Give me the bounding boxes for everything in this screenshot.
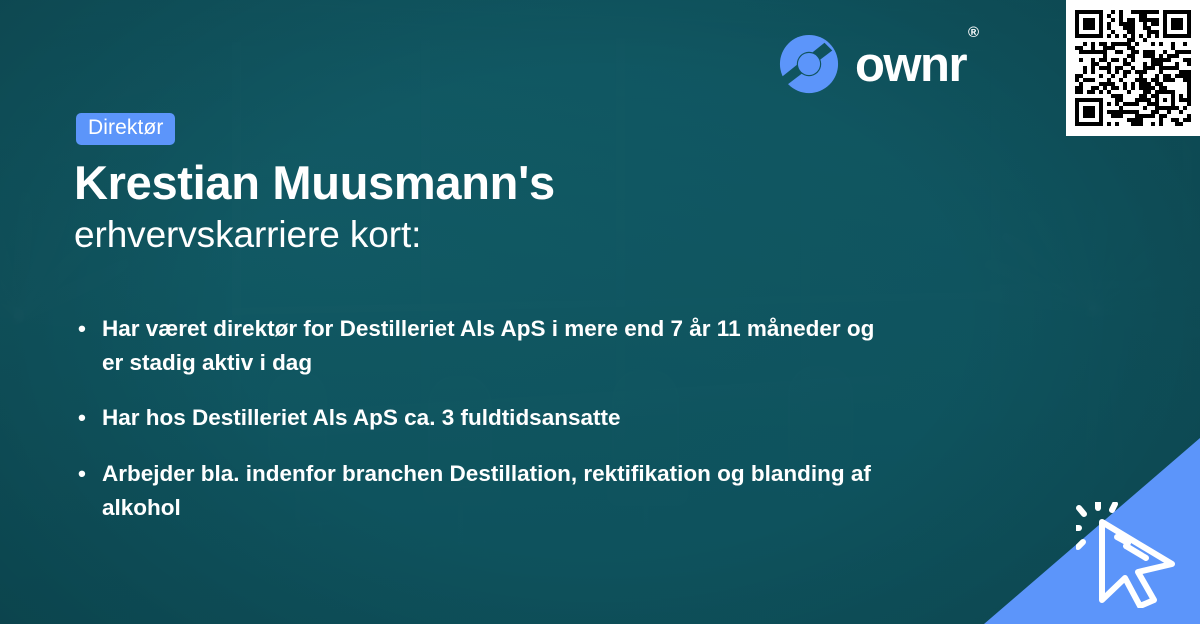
- ownr-circle-swoosh-icon: [778, 33, 840, 95]
- ownr-logo[interactable]: ownr ®: [778, 33, 977, 95]
- bullet-marker-icon: •: [78, 457, 102, 525]
- list-item: • Har været direktør for Destilleriet Al…: [78, 312, 878, 380]
- role-badge: Direktør: [76, 113, 175, 145]
- list-item-text: Arbejder bla. indenfor branchen Destilla…: [102, 457, 878, 525]
- ownr-wordmark: ownr: [855, 41, 966, 90]
- list-item: • Arbejder bla. indenfor branchen Destil…: [78, 457, 878, 525]
- registered-trademark-symbol: ®: [968, 24, 979, 41]
- list-item: • Har hos Destilleriet Als ApS ca. 3 ful…: [78, 401, 878, 435]
- career-facts-list: • Har været direktør for Destilleriet Al…: [78, 312, 878, 525]
- qr-code-image: [1075, 10, 1191, 126]
- click-cursor-icon: [1076, 502, 1186, 608]
- title-subtitle: erhvervskarriere kort:: [74, 213, 894, 257]
- list-item-text: Har været direktør for Destilleriet Als …: [102, 312, 878, 380]
- title-person-name: Krestian Muusmann's: [74, 158, 894, 209]
- page-title: Krestian Muusmann's erhvervskarriere kor…: [74, 158, 894, 256]
- bullet-marker-icon: •: [78, 401, 102, 435]
- bullet-marker-icon: •: [78, 312, 102, 380]
- list-item-text: Har hos Destilleriet Als ApS ca. 3 fuldt…: [102, 401, 878, 435]
- business-card-graphic: ownr ® Direktør Krestian Muusmann's erhv…: [0, 0, 1200, 624]
- qr-code[interactable]: [1066, 0, 1200, 136]
